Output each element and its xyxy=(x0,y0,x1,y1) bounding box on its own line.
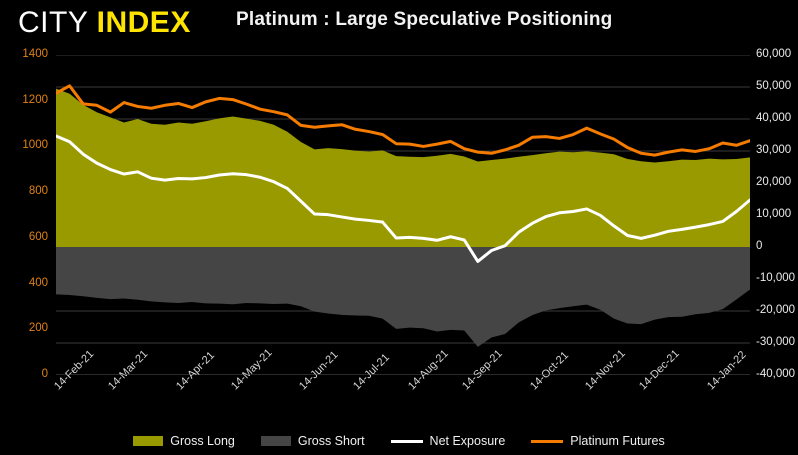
brand-logo-index: INDEX xyxy=(97,6,191,39)
left-axis-tick: 1200 xyxy=(22,95,48,106)
chart-legend: Gross LongGross ShortNet ExposurePlatinu… xyxy=(0,430,798,452)
chart-screenshot: CITY INDEX Platinum : Large Speculative … xyxy=(0,0,798,455)
right-axis-tick: 60,000 xyxy=(756,49,791,60)
legend-label: Gross Short xyxy=(298,434,365,448)
legend-swatch-icon xyxy=(133,436,163,446)
legend-item[interactable]: Gross Short xyxy=(261,434,365,448)
legend-swatch-icon xyxy=(261,436,291,446)
right-axis-tick: 50,000 xyxy=(756,81,791,92)
right-axis-tick: 40,000 xyxy=(756,113,791,124)
left-axis-labels: 0200400600800100012001400 xyxy=(0,0,48,455)
left-axis-tick: 1400 xyxy=(22,49,48,60)
legend-item[interactable]: Net Exposure xyxy=(391,434,506,448)
legend-item[interactable]: Platinum Futures xyxy=(531,434,664,448)
legend-swatch-icon xyxy=(391,440,423,443)
right-axis-tick: 30,000 xyxy=(756,145,791,156)
left-axis-tick: 200 xyxy=(29,323,48,334)
left-axis-tick: 1000 xyxy=(22,140,48,151)
left-axis-tick: 0 xyxy=(42,369,48,380)
legend-item[interactable]: Gross Long xyxy=(133,434,235,448)
right-axis-tick: 0 xyxy=(756,241,762,252)
series-area-gross-short xyxy=(56,247,750,347)
legend-swatch-icon xyxy=(531,440,563,443)
legend-label: Platinum Futures xyxy=(570,434,664,448)
left-axis-tick: 600 xyxy=(29,232,48,243)
legend-label: Gross Long xyxy=(170,434,235,448)
left-axis-tick: 800 xyxy=(29,186,48,197)
chart-svg xyxy=(56,55,750,375)
right-axis-tick: 10,000 xyxy=(756,209,791,220)
right-axis-tick: -10,000 xyxy=(756,273,795,284)
chart-plot-area xyxy=(56,55,750,375)
page-title: Platinum : Large Speculative Positioning xyxy=(236,9,612,31)
left-axis-tick: 400 xyxy=(29,278,48,289)
right-axis-tick: -30,000 xyxy=(756,337,795,348)
right-axis-tick: -40,000 xyxy=(756,369,795,380)
right-axis-labels: -40,000-30,000-20,000-10,000010,00020,00… xyxy=(756,0,798,455)
legend-label: Net Exposure xyxy=(430,434,506,448)
right-axis-tick: -20,000 xyxy=(756,305,795,316)
right-axis-tick: 20,000 xyxy=(756,177,791,188)
series-area-gross-long xyxy=(56,89,750,247)
